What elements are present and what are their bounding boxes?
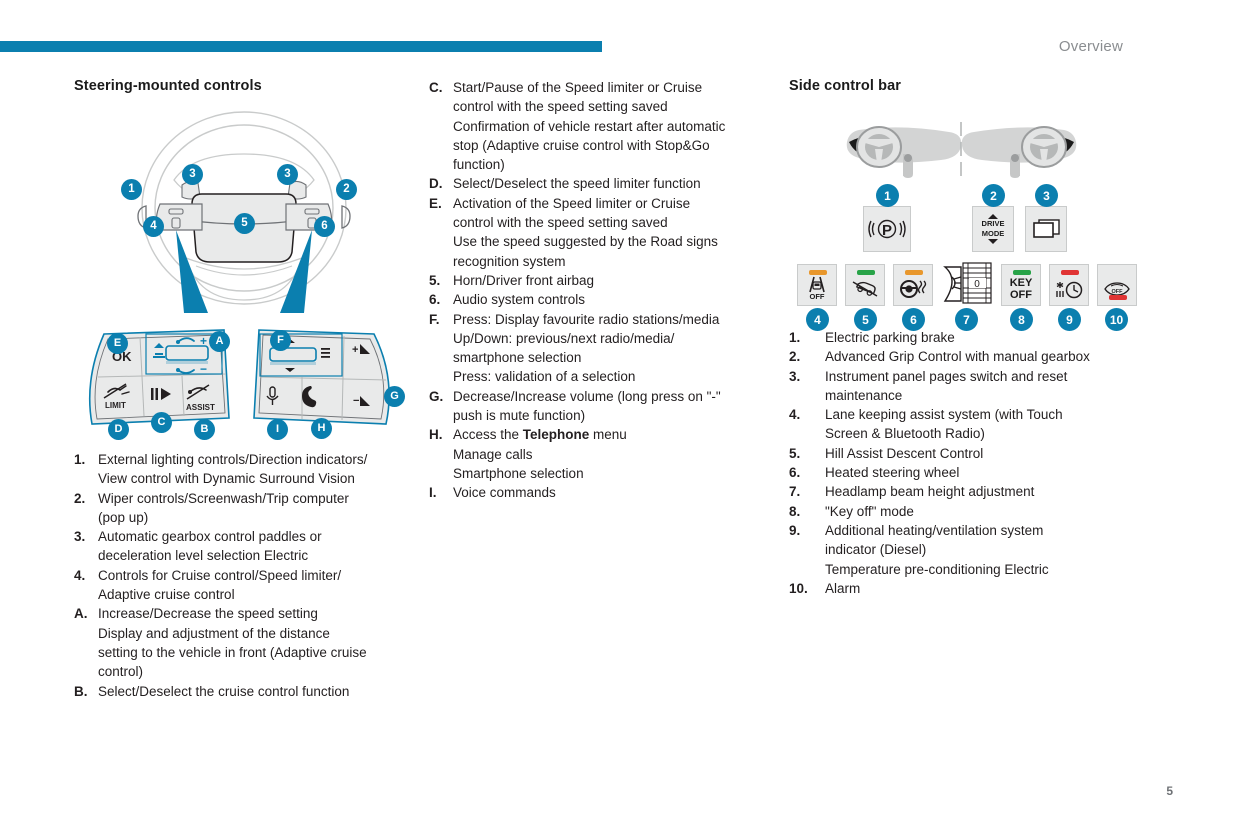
legend-right-item: 1.Electric parking brake [789, 328, 1139, 347]
legend-left-marker: 4. [74, 566, 98, 585]
bold-term: Telephone [523, 427, 590, 442]
legend-right-line: Electric parking brake [825, 328, 1139, 347]
legend-left-line: Controls for Cruise control/Speed limite… [98, 566, 419, 585]
callout-1: 1 [121, 179, 142, 200]
legend-left-text: Increase/Decrease the speed settingDispl… [98, 604, 419, 681]
legend-left-marker: 3. [74, 527, 98, 546]
legend-right-line: Advanced Grip Control with manual gearbo… [825, 347, 1139, 366]
legend-left-line: Wiper controls/Screenwash/Trip computer [98, 489, 419, 508]
legend-middle-line: Access the Telephone menu [453, 425, 774, 444]
legend-right-item: 6.Heated steering wheel [789, 463, 1139, 482]
legend-middle-text: Horn/Driver front airbag [453, 271, 774, 290]
legend-right-text: Advanced Grip Control with manual gearbo… [825, 347, 1139, 366]
legend-right-line: Alarm [825, 579, 1139, 598]
chapter-title: Overview [1059, 38, 1123, 55]
tile-lane-keeping-assist: OFF [797, 264, 837, 306]
legend-list-middle: C.Start/Pause of the Speed limiter or Cr… [429, 78, 774, 503]
legend-left-line: setting to the vehicle in front (Adaptiv… [98, 643, 419, 662]
lane-off-label: OFF [810, 293, 825, 302]
left-column: Steering-mounted controls [74, 78, 414, 100]
tile-heated-steering-wheel [893, 264, 933, 306]
legend-middle-marker: I. [429, 483, 453, 502]
legend-middle-line: control with the speed setting saved [453, 97, 774, 116]
legend-left-text: Controls for Cruise control/Speed limite… [98, 566, 419, 605]
steering-wheel-diagram: 1 2 3 3 4 5 6 [74, 108, 414, 313]
heated-wheel-icon [899, 278, 927, 298]
tile-instrument-panel-pages [1025, 206, 1067, 252]
legend-right-marker: 9. [789, 521, 825, 540]
parking-brake-icon: P [870, 218, 904, 240]
headlamp-level-value: 0 [974, 279, 980, 290]
hill-descent-icon [851, 278, 879, 298]
legend-middle-line: Horn/Driver front airbag [453, 271, 774, 290]
tile-electric-parking-brake: P [863, 206, 911, 252]
lane-assist-icon [806, 275, 828, 293]
callout-H: H [311, 418, 332, 439]
legend-left-line: Display and adjustment of the distance [98, 624, 419, 643]
legend-right-marker: 8. [789, 502, 825, 521]
drive-mode-line2: MODE [982, 230, 1005, 239]
led-red-heating [1061, 270, 1079, 275]
legend-middle-line: Confirmation of vehicle restart after au… [453, 117, 774, 136]
legend-list-left: 1.External lighting controls/Direction i… [74, 450, 419, 701]
header-accent-bar [0, 41, 602, 52]
legend-right-marker: 4. [789, 405, 825, 424]
sidebar-callout-3: 3 [1035, 184, 1058, 207]
legend-right-item: 3.Instrument panel pages switch and rese… [789, 367, 1139, 406]
legend-right-text: Alarm [825, 579, 1139, 598]
legend-left-line: Automatic gearbox control paddles or [98, 527, 419, 546]
legend-middle-line: Start/Pause of the Speed limiter or Crui… [453, 78, 774, 97]
left-legend-wrap: 1.External lighting controls/Direction i… [74, 450, 419, 701]
legend-left-line: control) [98, 662, 419, 681]
legend-middle-marker: D. [429, 174, 453, 193]
legend-middle-text: Access the Telephone menuManage callsSma… [453, 425, 774, 483]
led-red-alarm [1109, 295, 1127, 300]
legend-right-item: 2.Advanced Grip Control with manual gear… [789, 347, 1139, 366]
right-column: Side control bar [789, 78, 1134, 100]
legend-middle-line: recognition system [453, 252, 774, 271]
legend-middle-line: Press: validation of a selection [453, 367, 774, 386]
legend-right-line: Hill Assist Descent Control [825, 444, 1139, 463]
callout-E: E [107, 333, 128, 354]
svg-text:+: + [352, 344, 358, 356]
callout-B: B [194, 419, 215, 440]
legend-left-item: 1.External lighting controls/Direction i… [74, 450, 419, 489]
svg-text:LIMIT: LIMIT [105, 401, 126, 410]
legend-middle-line: Smartphone selection [453, 464, 774, 483]
legend-left-marker: 2. [74, 489, 98, 508]
legend-middle-item: I.Voice commands [429, 483, 774, 502]
legend-left-marker: A. [74, 604, 98, 623]
legend-right-line: Screen & Bluetooth Radio) [825, 424, 1139, 443]
legend-right-line: Additional heating/ventilation system [825, 521, 1139, 540]
legend-right-line: Heated steering wheel [825, 463, 1139, 482]
legend-right-marker: 2. [789, 347, 825, 366]
legend-right-line: maintenance [825, 386, 1139, 405]
right-legend-wrap: 1.Electric parking brake2.Advanced Grip … [789, 328, 1139, 598]
callout-D: D [108, 419, 129, 440]
legend-middle-text: Activation of the Speed limiter or Cruis… [453, 194, 774, 271]
legend-middle-line: Voice commands [453, 483, 774, 502]
legend-left-item: B.Select/Deselect the cruise control fun… [74, 682, 419, 701]
legend-middle-line: push is mute function) [453, 406, 774, 425]
legend-right-marker: 1. [789, 328, 825, 347]
legend-middle-text: Decrease/Increase volume (long press on … [453, 387, 774, 426]
legend-right-text: Lane keeping assist system (with TouchSc… [825, 405, 1139, 444]
chevron-down-icon [988, 239, 998, 244]
callout-6: 6 [314, 216, 335, 237]
legend-right-item: 9.Additional heating/ventilation systemi… [789, 521, 1139, 579]
legend-middle-line: control with the speed setting saved [453, 213, 774, 232]
callout-4: 4 [143, 216, 164, 237]
dashboard-lhd-rhd-illustration [789, 118, 1134, 180]
legend-middle-marker: 6. [429, 290, 453, 309]
legend-right-line: Temperature pre-conditioning Electric [825, 560, 1139, 579]
legend-right-text: Instrument panel pages switch and resetm… [825, 367, 1139, 406]
legend-left-line: Increase/Decrease the speed setting [98, 604, 419, 623]
tile-key-off: KEY OFF [1001, 264, 1041, 306]
legend-right-item: 4.Lane keeping assist system (with Touch… [789, 405, 1139, 444]
led-orange-lane [809, 270, 827, 275]
legend-right-item: 5.Hill Assist Descent Control [789, 444, 1139, 463]
svg-text:ASSIST: ASSIST [186, 403, 215, 412]
legend-middle-text: Start/Pause of the Speed limiter or Crui… [453, 78, 774, 174]
led-green-key [1013, 270, 1031, 275]
legend-right-line: Headlamp beam height adjustment [825, 482, 1139, 501]
sidebar-callout-1: 1 [876, 184, 899, 207]
legend-middle-item: E.Activation of the Speed limiter or Cru… [429, 194, 774, 271]
tile-additional-heating [1049, 264, 1089, 306]
legend-left-line: Select/Deselect the cruise control funct… [98, 682, 419, 701]
headlamp-beam-icon: 0 [941, 259, 993, 306]
legend-middle-line: function) [453, 155, 774, 174]
legend-middle-item: D.Select/Deselect the speed limiter func… [429, 174, 774, 193]
tile-alarm: OFF [1097, 264, 1137, 306]
side-control-bar-diagram: P DRIVE MODE OFF [789, 186, 1134, 321]
legend-middle-marker: F. [429, 310, 453, 329]
legend-middle-item: G.Decrease/Increase volume (long press o… [429, 387, 774, 426]
legend-right-line: Instrument panel pages switch and reset [825, 367, 1139, 386]
middle-column: C.Start/Pause of the Speed limiter or Cr… [429, 78, 774, 503]
legend-right-marker: 3. [789, 367, 825, 386]
page-number: 5 [1166, 784, 1173, 798]
legend-middle-line: Manage calls [453, 445, 774, 464]
callout-A: A [209, 331, 230, 352]
legend-left-line: (pop up) [98, 508, 419, 527]
legend-middle-item: C.Start/Pause of the Speed limiter or Cr… [429, 78, 774, 174]
legend-middle-item: 6.Audio system controls [429, 290, 774, 309]
legend-right-marker: 5. [789, 444, 825, 463]
legend-left-marker: 1. [74, 450, 98, 469]
led-orange-wheel [905, 270, 923, 275]
legend-left-line: External lighting controls/Direction ind… [98, 450, 419, 469]
legend-right-text: Headlamp beam height adjustment [825, 482, 1139, 501]
legend-middle-item: F.Press: Display favourite radio station… [429, 310, 774, 387]
callout-5: 5 [234, 213, 255, 234]
legend-right-text: Heated steering wheel [825, 463, 1139, 482]
legend-middle-marker: 5. [429, 271, 453, 290]
drive-mode-line1: DRIVE [982, 220, 1005, 229]
legend-left-line: deceleration level selection Electric [98, 546, 419, 565]
legend-middle-line: Select/Deselect the speed limiter functi… [453, 174, 774, 193]
legend-left-line: Adaptive cruise control [98, 585, 419, 604]
panel-pages-icon [1032, 218, 1060, 240]
legend-left-marker: B. [74, 682, 98, 701]
led-green-hill [857, 270, 875, 275]
legend-middle-line: stop (Adaptive cruise control with Stop&… [453, 136, 774, 155]
legend-right-text: "Key off" mode [825, 502, 1139, 521]
callout-3-left: 3 [182, 164, 203, 185]
callout-F: F [270, 330, 291, 351]
legend-right-item: 7.Headlamp beam height adjustment [789, 482, 1139, 501]
legend-middle-line: Activation of the Speed limiter or Cruis… [453, 194, 774, 213]
legend-middle-marker: C. [429, 78, 453, 97]
steering-control-pads-diagram: + − OK LIMIT ASSIST [74, 320, 414, 445]
legend-middle-line: Audio system controls [453, 290, 774, 309]
sidebar-callout-2: 2 [982, 184, 1005, 207]
page-title-steering: Steering-mounted controls [74, 78, 414, 94]
legend-right-text: Hill Assist Descent Control [825, 444, 1139, 463]
legend-middle-line: smartphone selection [453, 348, 774, 367]
legend-right-marker: 6. [789, 463, 825, 482]
legend-left-item: 4.Controls for Cruise control/Speed limi… [74, 566, 419, 605]
key-off-line2: OFF [1010, 290, 1032, 302]
legend-left-text: External lighting controls/Direction ind… [98, 450, 419, 489]
heating-timer-icon [1054, 279, 1084, 299]
legend-middle-marker: H. [429, 425, 453, 444]
legend-middle-text: Press: Display favourite radio stations/… [453, 310, 774, 387]
legend-right-marker: 10. [789, 579, 825, 598]
legend-middle-text: Voice commands [453, 483, 774, 502]
legend-left-text: Automatic gearbox control paddles ordece… [98, 527, 419, 566]
legend-middle-marker: G. [429, 387, 453, 406]
legend-middle-line: Press: Display favourite radio stations/… [453, 310, 774, 329]
callout-I: I [267, 419, 288, 440]
legend-middle-line: Decrease/Increase volume (long press on … [453, 387, 774, 406]
legend-middle-line: Up/Down: previous/next radio/media/ [453, 329, 774, 348]
legend-right-text: Additional heating/ventilation systemind… [825, 521, 1139, 579]
callout-C: C [151, 412, 172, 433]
legend-left-item: 2.Wiper controls/Screenwash/Trip compute… [74, 489, 419, 528]
tile-hill-assist-descent [845, 264, 885, 306]
callout-G: G [384, 386, 405, 407]
legend-right-line: "Key off" mode [825, 502, 1139, 521]
legend-left-text: Wiper controls/Screenwash/Trip computer(… [98, 489, 419, 528]
key-off-line1: KEY [1010, 278, 1033, 290]
legend-left-line: View control with Dynamic Surround Visio… [98, 469, 419, 488]
callout-3-right: 3 [277, 164, 298, 185]
tile-drive-mode: DRIVE MODE [972, 206, 1014, 252]
legend-middle-text: Audio system controls [453, 290, 774, 309]
legend-right-line: Lane keeping assist system (with Touch [825, 405, 1139, 424]
callout-2: 2 [336, 179, 357, 200]
page-title-sidebar: Side control bar [789, 78, 1134, 94]
svg-text:−: − [353, 395, 359, 407]
legend-middle-marker: E. [429, 194, 453, 213]
legend-middle-item: H.Access the Telephone menuManage callsS… [429, 425, 774, 483]
legend-left-item: A.Increase/Decrease the speed settingDis… [74, 604, 419, 681]
svg-text:+: + [200, 334, 207, 348]
legend-right-item: 8."Key off" mode [789, 502, 1139, 521]
legend-middle-text: Select/Deselect the speed limiter functi… [453, 174, 774, 193]
legend-right-item: 10.Alarm [789, 579, 1139, 598]
legend-left-text: Select/Deselect the cruise control funct… [98, 682, 419, 701]
svg-text:−: − [200, 362, 207, 376]
legend-right-marker: 7. [789, 482, 825, 501]
legend-list-right: 1.Electric parking brake2.Advanced Grip … [789, 328, 1139, 598]
legend-middle-item: 5.Horn/Driver front airbag [429, 271, 774, 290]
legend-left-item: 3.Automatic gearbox control paddles orde… [74, 527, 419, 566]
legend-middle-line: Use the speed suggested by the Road sign… [453, 232, 774, 251]
legend-right-text: Electric parking brake [825, 328, 1139, 347]
tile-headlamp-beam-height: 0 [941, 259, 993, 306]
legend-right-line: indicator (Diesel) [825, 540, 1139, 559]
